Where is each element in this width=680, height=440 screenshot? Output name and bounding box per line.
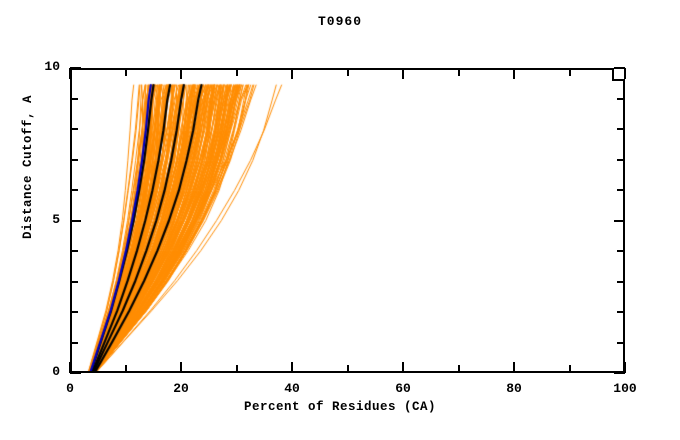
y-tick — [70, 311, 78, 313]
x-tick-label: 20 — [141, 381, 221, 396]
x-tick — [513, 362, 515, 373]
x-tick-label: 0 — [30, 381, 110, 396]
x-tick-top — [347, 68, 349, 76]
x-tick — [236, 365, 238, 373]
x-tick-top — [69, 68, 71, 79]
y-tick-right — [617, 250, 625, 252]
curve-canvas — [72, 70, 623, 371]
x-tick-top — [180, 68, 182, 79]
plot-area — [70, 68, 625, 373]
x-tick-top — [291, 68, 293, 79]
y-tick-label: 0 — [10, 364, 60, 379]
x-tick-top — [569, 68, 571, 76]
x-tick — [347, 365, 349, 373]
y-tick — [70, 98, 78, 100]
x-tick-top — [402, 68, 404, 79]
x-axis-title: Percent of Residues (CA) — [0, 400, 680, 414]
y-tick-right — [617, 342, 625, 344]
y-axis-title: Distance Cutoff, A — [21, 67, 35, 267]
y-tick — [70, 159, 78, 161]
y-tick-label: 5 — [10, 212, 60, 227]
y-tick — [70, 250, 78, 252]
x-tick — [458, 365, 460, 373]
y-tick-right — [617, 311, 625, 313]
y-tick-label: 10 — [10, 59, 60, 74]
x-tick-label: 60 — [363, 381, 443, 396]
y-tick-right — [614, 220, 625, 222]
x-tick — [180, 362, 182, 373]
y-tick — [70, 372, 81, 374]
chart-figure: T0960 0510 020406080100 Distance Cutoff,… — [0, 0, 680, 440]
y-tick — [70, 281, 78, 283]
x-tick-top — [624, 68, 626, 79]
y-tick — [70, 128, 78, 130]
y-tick-right — [617, 98, 625, 100]
y-tick-right — [617, 128, 625, 130]
x-tick-label: 80 — [474, 381, 554, 396]
y-tick — [70, 189, 78, 191]
y-tick — [70, 220, 81, 222]
y-tick-right — [617, 159, 625, 161]
chart-title: T0960 — [0, 14, 680, 29]
x-tick-top — [125, 68, 127, 76]
x-tick — [125, 365, 127, 373]
y-tick-right — [617, 189, 625, 191]
x-tick-top — [513, 68, 515, 79]
x-tick — [569, 365, 571, 373]
x-tick-top — [236, 68, 238, 76]
x-tick — [291, 362, 293, 373]
y-tick-right — [617, 281, 625, 283]
x-tick — [624, 362, 626, 373]
x-tick — [69, 362, 71, 373]
x-tick — [402, 362, 404, 373]
x-tick-top — [458, 68, 460, 76]
y-tick — [70, 342, 78, 344]
x-tick-label: 100 — [585, 381, 665, 396]
y-tick — [70, 67, 81, 69]
x-tick-label: 40 — [252, 381, 332, 396]
